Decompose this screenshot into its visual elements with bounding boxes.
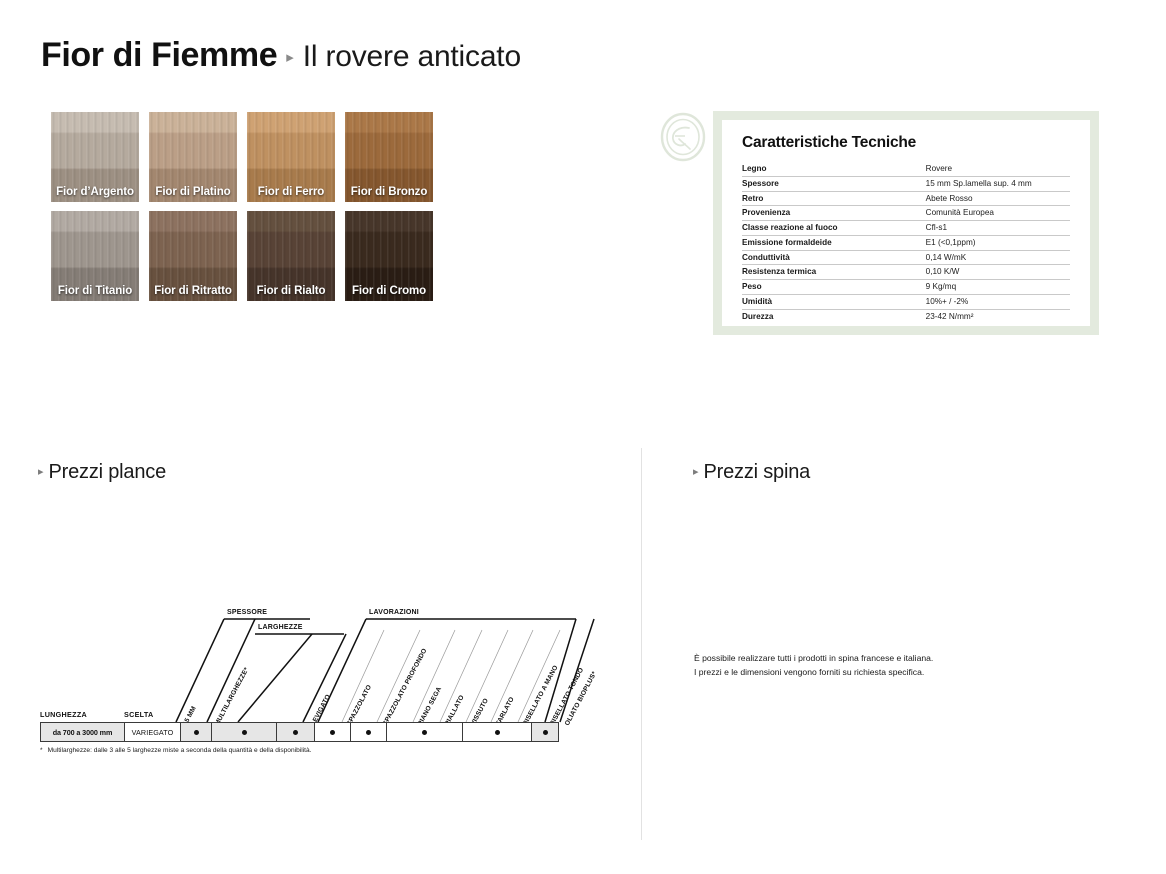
table-row: Spessore 15 mm Sp.lamella sup. 4 mm [742,176,1070,191]
spec-value: Cfl-s1 [926,221,1070,236]
swatch-label: Fior di Cromo [345,285,433,297]
swatch-label: Fior di Rialto [247,285,335,297]
spec-value: 10%+ / -2% [926,294,1070,309]
swatch-tile[interactable]: Fior di Titanio [51,211,139,301]
spec-value: E1 (<0,1ppm) [926,235,1070,250]
table-row: Retro Abete Rosso [742,191,1070,206]
section-heading-prezzi-plance: ▸ Prezzi plance [38,461,166,484]
spec-value: 0,10 K/W [926,265,1070,280]
fiemme-logo-icon [659,111,707,163]
swatch-label: Fior di Platino [149,186,237,198]
cell-lunghezza: da 700 a 3000 mm [41,723,125,741]
swatch-tile[interactable]: Fior di Platino [149,112,237,202]
spec-key: Legno [742,162,926,176]
swatch-label: Fior di Bronzo [345,186,433,198]
spec-value: 9 Kg/mq [926,280,1070,295]
spec-value: Abete Rosso [926,191,1070,206]
table-row: da 700 a 3000 mm VARIEGATO [40,722,559,742]
footnote-text: Multilarghezze: dalle 3 alle 5 larghezze… [48,747,312,754]
technical-specs-title: Caratteristiche Tecniche [742,134,1070,152]
cell-mark-bisellato [463,723,532,741]
cell-scelta: VARIEGATO [125,723,181,741]
chevron-right-icon: ▸ [286,48,294,66]
table-row: Resistenza termica 0,10 K/W [742,265,1070,280]
spec-key: Umidità [742,294,926,309]
column-divider [641,448,642,840]
swatch-tile[interactable]: Fior di Rialto [247,211,335,301]
cell-mark-levigato [277,723,315,741]
swatch-label: Fior di Ritratto [149,285,237,297]
table-row: Conduttività 0,14 W/mK [742,250,1070,265]
prezzi-plance-table: SPESSORE LARGHEZZE LAVORAZIONI 15 MM MUL… [36,600,616,765]
spina-note-line-1: È possibile realizzare tutti i prodotti … [694,652,933,666]
spec-key: Peso [742,280,926,295]
swatch-tile[interactable]: Fior di Cromo [345,211,433,301]
table-column-headers: LUNGHEZZA SCELTA [40,710,180,719]
swatch-label: Fior d’Argento [51,186,139,198]
group-label-lavorazioni: LAVORAZIONI [369,609,419,616]
page-title: Fior di Fiemme ▸ Il rovere anticato [41,36,521,75]
swatch-label: Fior di Ferro [247,186,335,198]
section-label: Prezzi plance [49,461,166,484]
cell-mark-15mm [181,723,212,741]
page-title-sub: Il rovere anticato [303,40,521,74]
spec-key: Conduttività [742,250,926,265]
spina-description: È possibile realizzare tutti i prodotti … [694,652,933,680]
spec-value: Comunità Europea [926,206,1070,221]
group-label-larghezze: LARGHEZZE [258,624,303,631]
footnote-star: * [40,747,43,754]
technical-specs-card: Caratteristiche Tecniche Legno Rovere Sp… [713,111,1099,335]
spina-note-line-2: I prezzi e le dimensioni vengono forniti… [694,666,933,680]
spec-value: 0,14 W/mK [926,250,1070,265]
chevron-right-icon: ▸ [38,465,44,478]
group-label-spessore: SPESSORE [227,609,267,616]
spec-key: Provenienza [742,206,926,221]
cell-mark-vissuto [387,723,463,741]
table-row: Peso 9 Kg/mq [742,280,1070,295]
cell-mark-spazzolato [315,723,351,741]
swatch-tile[interactable]: Fior di Ritratto [149,211,237,301]
spec-key: Classe reazione al fuoco [742,221,926,236]
wood-finish-gallery: Fior d’Argento Fior di Platino Fior di F… [51,112,433,301]
table-row: Umidità 10%+ / -2% [742,294,1070,309]
spec-value: 23-42 N/mm² [926,309,1070,323]
swatch-tile[interactable]: Fior di Bronzo [345,112,433,202]
spec-value: Rovere [926,162,1070,176]
page-title-main: Fior di Fiemme [41,36,277,75]
spec-key: Durezza [742,309,926,323]
swatch-tile[interactable]: Fior di Ferro [247,112,335,202]
table-row: Provenienza Comunità Europea [742,206,1070,221]
section-heading-prezzi-spina: ▸ Prezzi spina [693,461,810,484]
swatch-label: Fior di Titanio [51,285,139,297]
spec-key: Retro [742,191,926,206]
cell-mark-oliato-bioplus [532,723,558,741]
spec-value: 15 mm Sp.lamella sup. 4 mm [926,176,1070,191]
column-header-scelta: SCELTA [124,710,180,719]
table-row: Durezza 23-42 N/mm² [742,309,1070,323]
technical-specs-table: Legno Rovere Spessore 15 mm Sp.lamella s… [742,162,1070,323]
table-row: Emissione formaldeide E1 (<0,1ppm) [742,235,1070,250]
spec-key: Resistenza termica [742,265,926,280]
cell-mark-piano-sega [351,723,387,741]
spec-key: Spessore [742,176,926,191]
column-header-lunghezza: LUNGHEZZA [40,710,124,719]
cell-mark-multilarghezze [212,723,277,741]
chevron-right-icon: ▸ [693,465,699,478]
section-label: Prezzi spina [704,461,811,484]
table-footnote: *Multilarghezze: dalle 3 alle 5 larghezz… [40,747,312,754]
table-row: Classe reazione al fuoco Cfl-s1 [742,221,1070,236]
swatch-tile[interactable]: Fior d’Argento [51,112,139,202]
table-row: Legno Rovere [742,162,1070,176]
spec-key: Emissione formaldeide [742,235,926,250]
